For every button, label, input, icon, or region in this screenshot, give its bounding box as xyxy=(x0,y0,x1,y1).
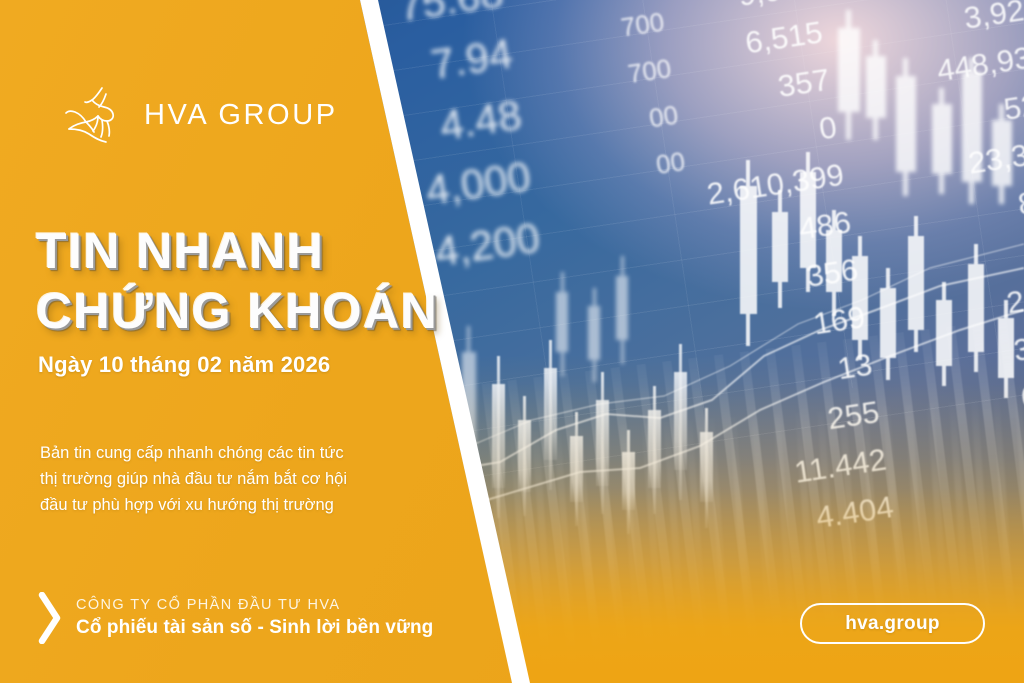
headline-line-2: CHỨNG KHOÁN xyxy=(36,282,466,340)
description-line-3: đầu tư phù hợp với xu hướng thị trường xyxy=(40,492,420,518)
footer-block: CÔNG TY CỔ PHẦN ĐẦU TƯ HVA Cổ phiếu tài … xyxy=(38,592,433,644)
chevron-right-icon xyxy=(38,592,62,644)
company-tagline: Cổ phiếu tài sản số - Sinh lời bền vững xyxy=(76,615,433,641)
headline-line-1: TIN NHANH xyxy=(36,222,466,280)
description-line-2: thị trường giúp nhà đầu tư nắm bắt cơ hộ… xyxy=(40,466,420,492)
page-title: TIN NHANH CHỨNG KHOÁN xyxy=(36,222,466,340)
company-name: CÔNG TY CỔ PHẦN ĐẦU TƯ HVA xyxy=(76,595,433,615)
website-badge[interactable]: hva.group xyxy=(800,603,985,644)
deer-head-logo-icon xyxy=(62,84,128,146)
footer-text: CÔNG TY CỔ PHẦN ĐẦU TƯ HVA Cổ phiếu tài … xyxy=(76,595,433,641)
description-line-1: Bản tin cung cấp nhanh chóng các tin tức xyxy=(40,440,420,466)
brand-logo[interactable]: HVA GROUP xyxy=(62,84,338,146)
brand-name: HVA GROUP xyxy=(144,99,338,132)
date-label: Ngày 10 tháng 02 năm 2026 xyxy=(38,352,330,378)
news-banner: 75.68 7.94 4.48 4,000 4,200 700 700 700 … xyxy=(0,0,1024,683)
description-text: Bản tin cung cấp nhanh chóng các tin tức… xyxy=(40,440,420,518)
